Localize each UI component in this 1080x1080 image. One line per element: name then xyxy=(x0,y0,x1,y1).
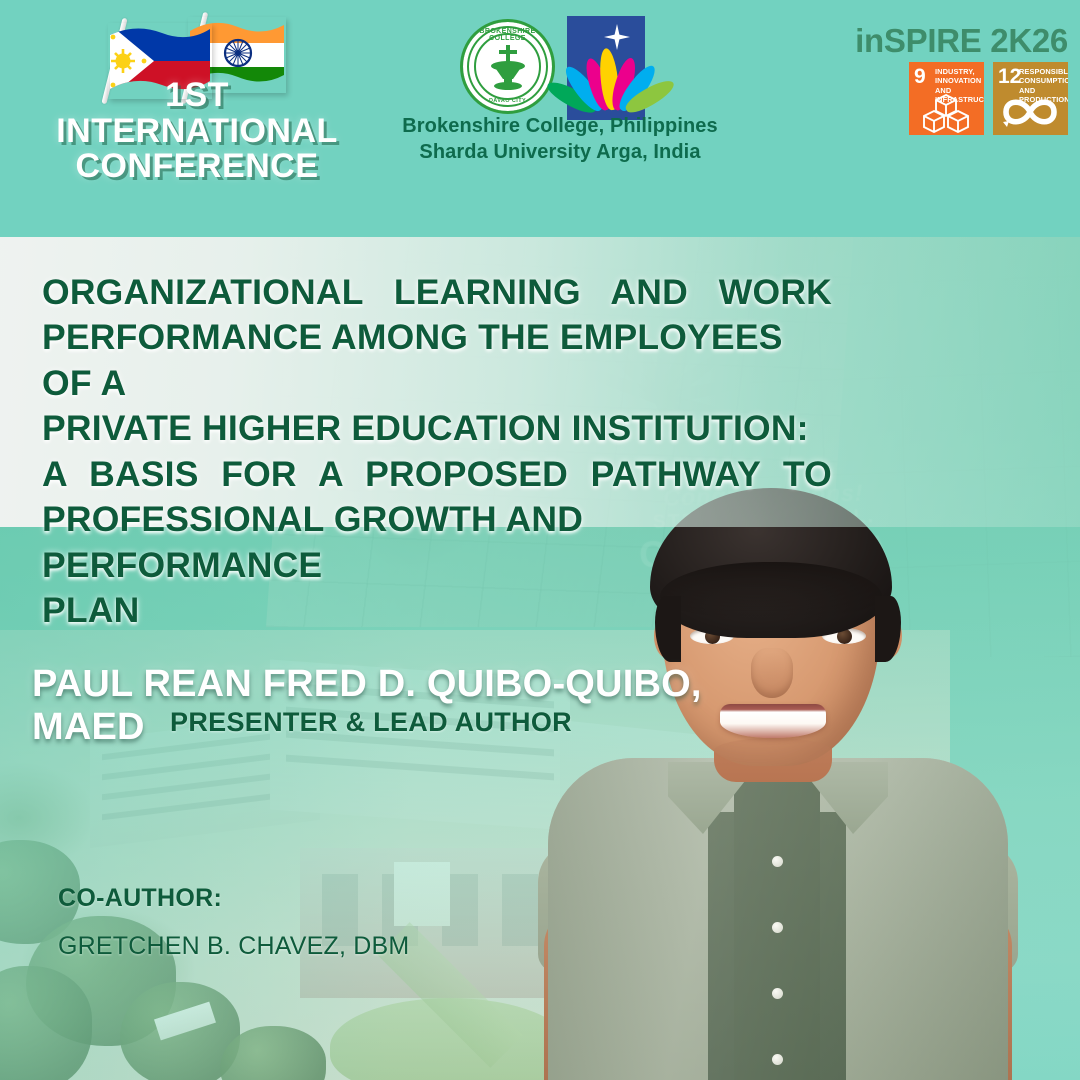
industry-cubes-icon xyxy=(909,91,984,133)
title-line-5: PROFESSIONAL GROWTH AND PERFORMANCE xyxy=(42,497,832,588)
sdg-goal-badges: 9 INDUSTRY, INNOVATION AND INFRASTRUCTUR… xyxy=(909,62,1068,135)
infinity-loop-icon xyxy=(993,91,1068,133)
conference-poster: Congratulations! STEPHEN JAMES L. CARTAG… xyxy=(0,0,1080,1080)
seal-inner-ring xyxy=(474,33,541,100)
sdg-badge-9: 9 INDUSTRY, INNOVATION AND INFRASTRUCTUR… xyxy=(909,62,984,135)
institution-line-1: Brokenshire College, Philippines xyxy=(300,113,820,139)
coauthor-name: GRETCHEN B. CHAVEZ, DBM xyxy=(58,932,409,961)
presentation-title: ORGANIZATIONAL LEARNING AND WORK PERFORM… xyxy=(42,270,832,634)
institution-line-2: Sharda University Arga, India xyxy=(300,139,820,165)
title-band: ORGANIZATIONAL LEARNING AND WORK PERFORM… xyxy=(0,237,1080,527)
title-line-2: PERFORMANCE AMONG THE EMPLOYEES OF A xyxy=(42,315,832,406)
event-brand-inspire-2k26: inSPIRE 2K26 xyxy=(855,22,1068,60)
title-line-6: PLAN xyxy=(42,588,832,633)
nose xyxy=(751,648,793,698)
mouth xyxy=(720,704,826,738)
title-line-1: ORGANIZATIONAL LEARNING AND WORK xyxy=(42,270,832,315)
sdg-number: 9 xyxy=(914,66,926,87)
presenter-role: PRESENTER & LEAD AUTHOR xyxy=(32,707,710,738)
sdg-number: 12 xyxy=(998,66,1021,87)
coauthor-label: CO-AUTHOR: xyxy=(58,884,222,913)
lamp-cross-emblem-icon xyxy=(482,43,534,91)
shirt-shading xyxy=(548,758,1008,1080)
sharda-university-logo-icon xyxy=(567,16,645,120)
institution-names: Brokenshire College, Philippines Sharda … xyxy=(300,113,820,165)
title-line-4: A BASIS FOR A PROPOSED PATHWAY TO xyxy=(42,452,832,497)
poster-header: 1ST INTERNATIONAL CONFERENCE BROKENSHIRE… xyxy=(0,0,1080,237)
sdg-badge-12: 12 RESPONSIBLE CONSUMPTION AND PRODUCTIO… xyxy=(993,62,1068,135)
institution-logos: BROKENSHIRE COLLEGE DAVAO CITY xyxy=(455,16,645,120)
brokenshire-college-seal-icon: BROKENSHIRE COLLEGE DAVAO CITY xyxy=(460,19,555,114)
title-line-3: PRIVATE HIGHER EDUCATION INSTITUTION: xyxy=(42,406,832,451)
